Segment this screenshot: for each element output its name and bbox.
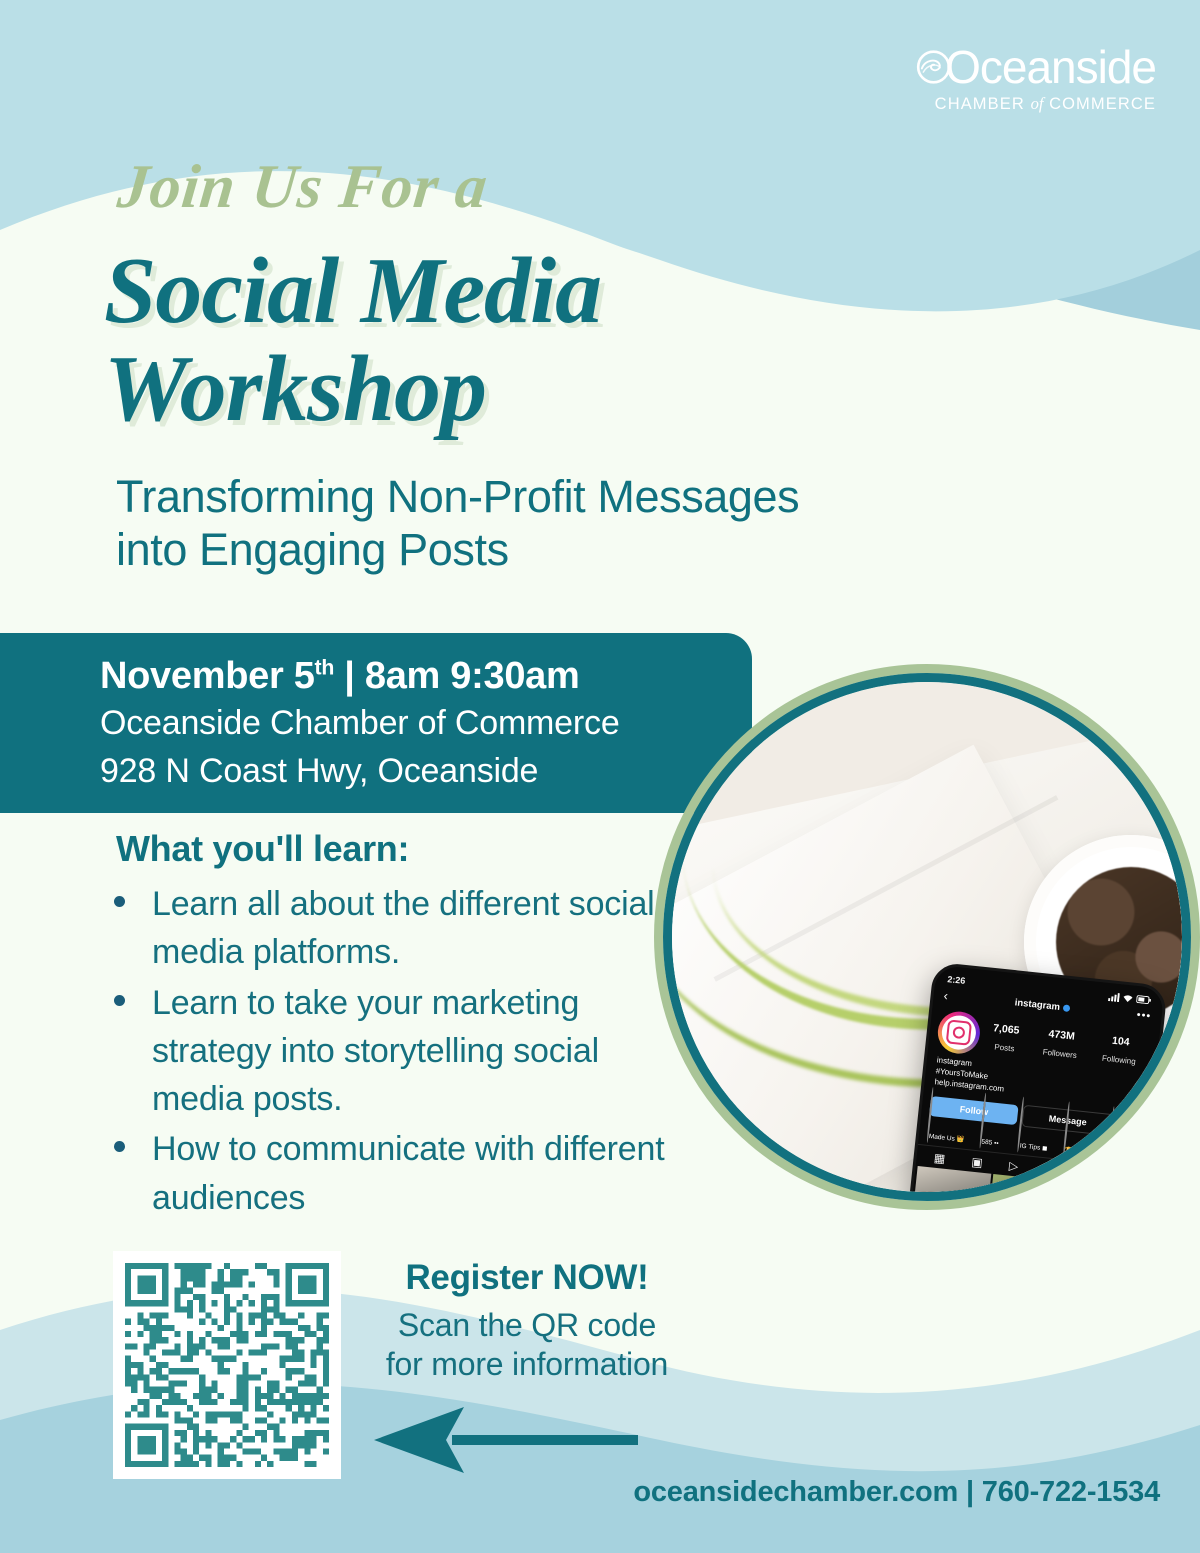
event-time: 8am 9:30am bbox=[365, 655, 580, 697]
play-icon[interactable]: ▷ bbox=[1008, 1160, 1018, 1173]
title-line-2: Workshop bbox=[104, 341, 1004, 439]
photo-circle: 2:26 bbox=[654, 664, 1200, 1210]
photo-ring-inner: 2:26 bbox=[663, 673, 1191, 1201]
stat-following-value: 104 bbox=[1111, 1034, 1130, 1048]
stat-following-label: Following bbox=[1101, 1053, 1136, 1065]
highlight-label: Made Us 👑 bbox=[928, 1133, 964, 1144]
instagram-icon bbox=[945, 1019, 971, 1045]
title-line-1: Social Media bbox=[104, 243, 1004, 341]
left-arrow-icon bbox=[372, 1405, 638, 1475]
phone-mockup: 2:26 bbox=[901, 961, 1167, 1192]
stat-followers-value: 473M bbox=[1048, 1028, 1075, 1043]
list-item[interactable]: IG Tips ◼ bbox=[1013, 1134, 1052, 1156]
signal-icon bbox=[1107, 991, 1119, 1001]
phone-status-icons bbox=[1107, 991, 1151, 1004]
phone-clock: 2:26 bbox=[947, 974, 966, 986]
event-date-ordinal: th bbox=[315, 655, 334, 679]
logo-tagline-of: of bbox=[1031, 94, 1044, 113]
logo-wordmark: Oceanside bbox=[945, 44, 1156, 90]
stat-posts-value: 7,065 bbox=[992, 1022, 1019, 1037]
qr-code[interactable] bbox=[113, 1251, 341, 1479]
footer-phone[interactable]: 760-722-1534 bbox=[982, 1476, 1160, 1508]
reels-icon[interactable]: ▣ bbox=[971, 1156, 984, 1169]
list-item[interactable]: Made Us 👑 bbox=[926, 1125, 965, 1147]
bullet-icon bbox=[114, 1141, 125, 1152]
stat-following: 104 Following bbox=[1101, 1030, 1138, 1069]
qr-code-image[interactable] bbox=[125, 1263, 329, 1467]
tagged-icon[interactable]: ⧉ bbox=[1118, 1171, 1128, 1184]
grid-icon[interactable]: ▦ bbox=[933, 1152, 946, 1165]
phone-account-handle: instagram bbox=[1014, 997, 1070, 1014]
list-item-text: Learn to take your marketing strategy in… bbox=[152, 984, 599, 1119]
register-subtext-line-1: Scan the QR code bbox=[362, 1306, 692, 1345]
list-item-text: Learn all about the different social med… bbox=[152, 885, 655, 971]
photo-image: 2:26 bbox=[672, 682, 1182, 1192]
list-item: How to communicate with different audien… bbox=[100, 1125, 680, 1222]
register-subtext: Scan the QR code for more information bbox=[362, 1306, 692, 1384]
subtitle-line-1: Transforming Non-Profit Messages bbox=[116, 470, 1046, 523]
page-title: Social Media Workshop bbox=[104, 243, 1004, 439]
register-subtext-line-2: for more information bbox=[362, 1345, 692, 1384]
highlight-label: 🏆🏆🏆 bbox=[1064, 1147, 1089, 1156]
bullet-icon bbox=[114, 896, 125, 907]
chamber-logo: Oceanside CHAMBER of COMMERCE bbox=[916, 44, 1156, 114]
logo-tagline-commerce: COMMERCE bbox=[1049, 95, 1156, 113]
event-separator: | bbox=[334, 655, 365, 697]
highlight-label: 585 •• bbox=[981, 1139, 999, 1148]
battery-icon bbox=[1135, 995, 1151, 1005]
event-details-panel: November 5th | 8am 9:30am Oceanside Cham… bbox=[0, 633, 752, 813]
guides-icon[interactable]: ▤ bbox=[1044, 1163, 1057, 1176]
highlight-label: IG Tips ◼ bbox=[1019, 1143, 1047, 1153]
footer-contact: oceansidechamber.com | 760-722-1534 bbox=[0, 1476, 1160, 1509]
stat-posts-label: Posts bbox=[994, 1042, 1015, 1053]
phone-handle-text: instagram bbox=[1014, 997, 1060, 1013]
add-person-icon[interactable]: ＋ bbox=[1116, 1113, 1142, 1140]
verified-badge-icon bbox=[1062, 1004, 1070, 1012]
logo-tagline: CHAMBER of COMMERCE bbox=[916, 94, 1156, 114]
logo-tagline-chamber: CHAMBER bbox=[935, 95, 1025, 113]
list-item[interactable]: 🏆🏆🏆 bbox=[1057, 1139, 1096, 1161]
stat-followers: 473M Followers bbox=[1042, 1023, 1080, 1062]
avatar-inner bbox=[940, 1014, 977, 1051]
flyer-poster: Oceanside CHAMBER of COMMERCE Join Us Fo… bbox=[0, 0, 1200, 1553]
register-block: Register NOW! Scan the QR code for more … bbox=[362, 1258, 692, 1384]
avatar bbox=[936, 1009, 982, 1055]
learn-heading: What you'll learn: bbox=[116, 828, 409, 870]
footer-divider: | bbox=[958, 1476, 982, 1508]
eyebrow-text: Join Us For a bbox=[114, 152, 491, 223]
stat-posts: 7,065 Posts bbox=[990, 1018, 1020, 1057]
subtitle-line-2: into Engaging Posts bbox=[116, 523, 1046, 576]
wifi-icon bbox=[1121, 993, 1133, 1003]
highlight-label: #Share bbox=[1110, 1152, 1132, 1161]
list-item[interactable]: 585 •• bbox=[970, 1130, 1009, 1152]
bullet-icon bbox=[114, 995, 125, 1006]
footer-website[interactable]: oceansidechamber.com bbox=[633, 1476, 958, 1508]
remix-icon[interactable]: ✥ bbox=[1081, 1167, 1092, 1180]
stat-followers-label: Followers bbox=[1042, 1047, 1077, 1060]
back-chevron-icon[interactable]: ‹ bbox=[943, 989, 949, 1002]
page-subtitle: Transforming Non-Profit Messages into En… bbox=[116, 470, 1046, 576]
list-item: Learn all about the different social med… bbox=[100, 880, 680, 977]
list-item-text: How to communicate with different audien… bbox=[152, 1130, 664, 1216]
list-item: Learn to take your marketing strategy in… bbox=[100, 979, 680, 1124]
follow-button[interactable]: Follow bbox=[929, 1096, 1019, 1125]
list-item[interactable]: #Share bbox=[1100, 1143, 1139, 1165]
register-heading: Register NOW! bbox=[362, 1258, 692, 1298]
event-date: November 5 bbox=[100, 655, 315, 697]
more-options-icon[interactable]: ••• bbox=[1136, 1010, 1152, 1022]
learn-list: Learn all about the different social med… bbox=[100, 880, 680, 1224]
